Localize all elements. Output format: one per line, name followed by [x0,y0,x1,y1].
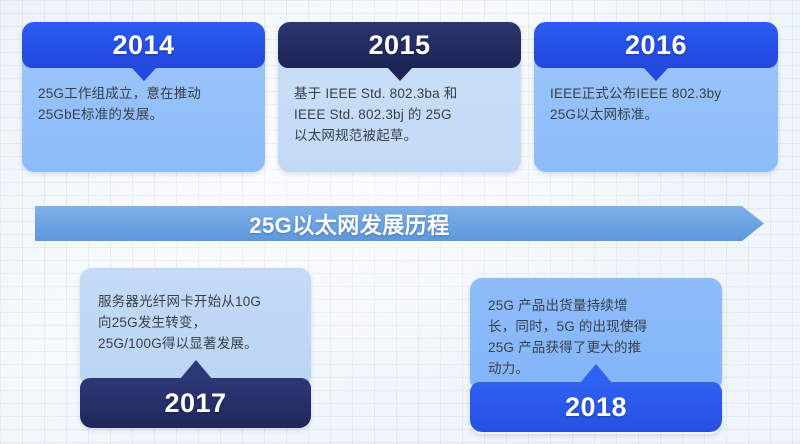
card-pointer-down-icon-2016 [643,67,669,81]
timeline-banner: 25G以太网发展历程 [35,206,764,241]
card-header-2014: 2014 [22,22,265,68]
banner-title: 25G以太网发展历程 [249,208,450,240]
card-description-2016: IEEE正式公布IEEE 802.3by 25G以太网标准。 [550,84,762,126]
card-footer-2017: 2017 [80,378,311,428]
timeline-card-2017[interactable]: 服务器光纤网卡开始从10G 向25G发生转变， 25G/100G得以显著发展。 … [80,268,311,428]
card-header-2015: 2015 [278,22,521,68]
card-year-label-2014: 2014 [112,32,174,59]
card-year-label-2016: 2016 [625,32,687,59]
card-year-label-2015: 2015 [368,32,430,59]
timeline-card-2014[interactable]: 25G工作组成立，意在推动 25GbE标准的发展。 2014 [22,22,265,172]
card-footer-2018: 2018 [470,382,722,432]
card-description-2015: 基于 IEEE Std. 802.3ba 和 IEEE Std. 802.3bj… [294,84,505,147]
timeline-card-2016[interactable]: IEEE正式公布IEEE 802.3by 25G以太网标准。 2016 [534,22,778,172]
timeline-card-2015[interactable]: 基于 IEEE Std. 802.3ba 和 IEEE Std. 802.3bj… [278,22,521,172]
infographic-canvas: 25G工作组成立，意在推动 25GbE标准的发展。 2014 基于 IEEE S… [0,0,800,444]
timeline-card-2018[interactable]: 25G 产品出货量持续增 长，同时，5G 的出现使得 25G 产品获得了更大的推… [470,278,722,434]
card-pointer-up-icon-2017 [180,360,212,379]
card-year-label-2017: 2017 [164,390,226,417]
card-pointer-up-icon-2018 [580,364,612,383]
card-description-2017: 服务器光纤网卡开始从10G 向25G发生转变， 25G/100G得以显著发展。 [98,292,295,355]
card-description-2014: 25G工作组成立，意在推动 25GbE标准的发展。 [38,84,249,126]
card-pointer-down-icon-2014 [131,67,157,81]
card-pointer-down-icon-2015 [387,67,413,81]
card-year-label-2018: 2018 [565,394,627,421]
card-header-2016: 2016 [534,22,778,68]
